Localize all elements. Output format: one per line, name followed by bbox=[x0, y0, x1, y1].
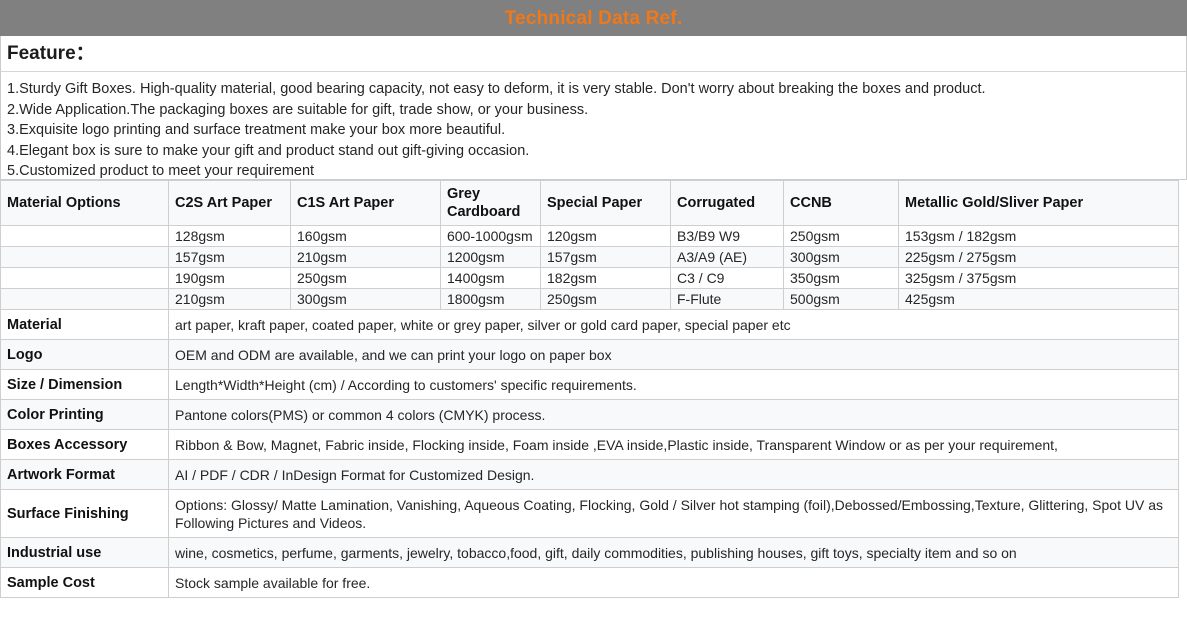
cell-c2s-art-paper: 157gsm bbox=[169, 247, 291, 268]
feature-heading-row: Feature： bbox=[0, 36, 1187, 71]
cell-c2s-art-paper: 128gsm bbox=[169, 226, 291, 247]
cell-c1s-art-paper: 300gsm bbox=[291, 289, 441, 310]
spec-row-sample-cost: Sample Cost Stock sample available for f… bbox=[1, 568, 1179, 598]
spec-row-surface-finishing: Surface Finishing Options: Glossy/ Matte… bbox=[1, 490, 1179, 538]
feature-line: 1.Sturdy Gift Boxes. High-quality materi… bbox=[7, 79, 1180, 100]
spec-row-boxes-accessory: Boxes Accessory Ribbon & Bow, Magnet, Fa… bbox=[1, 430, 1179, 460]
cell-ccnb: 300gsm bbox=[784, 247, 899, 268]
cell-corrugated: A3/A9 (AE) bbox=[671, 247, 784, 268]
cell-grey-cardboard: 600-1000gsm bbox=[441, 226, 541, 247]
cell-metallic-paper: 425gsm bbox=[899, 289, 1179, 310]
spec-row-material: Material art paper, kraft paper, coated … bbox=[1, 310, 1179, 340]
cell-special-paper: 182gsm bbox=[541, 268, 671, 289]
spec-value: art paper, kraft paper, coated paper, wh… bbox=[169, 310, 1179, 340]
spec-label: Industrial use bbox=[1, 538, 169, 568]
cell-c1s-art-paper: 160gsm bbox=[291, 226, 441, 247]
cell-metallic-paper: 325gsm / 375gsm bbox=[899, 268, 1179, 289]
cell-material-options bbox=[1, 289, 169, 310]
cell-ccnb: 250gsm bbox=[784, 226, 899, 247]
spec-label: Size / Dimension bbox=[1, 370, 169, 400]
spec-row-industrial-use: Industrial use wine, cosmetics, perfume,… bbox=[1, 538, 1179, 568]
cell-grey-cardboard: 1200gsm bbox=[441, 247, 541, 268]
cell-c2s-art-paper: 190gsm bbox=[169, 268, 291, 289]
feature-heading: Feature： bbox=[7, 44, 95, 63]
column-header-grey-cardboard: Grey Cardboard bbox=[441, 181, 541, 226]
column-header-c1s-art-paper: C1S Art Paper bbox=[291, 181, 441, 226]
column-header-corrugated: Corrugated bbox=[671, 181, 784, 226]
spec-value: Length*Width*Height (cm) / According to … bbox=[169, 370, 1179, 400]
cell-grey-cardboard: 1400gsm bbox=[441, 268, 541, 289]
technical-data-sheet: Technical Data Ref. Feature： 1.Sturdy Gi… bbox=[0, 0, 1187, 620]
cell-ccnb: 500gsm bbox=[784, 289, 899, 310]
cell-metallic-paper: 225gsm / 275gsm bbox=[899, 247, 1179, 268]
spec-label: Artwork Format bbox=[1, 460, 169, 490]
spec-value: Stock sample available for free. bbox=[169, 568, 1179, 598]
spec-label: Boxes Accessory bbox=[1, 430, 169, 460]
spec-value: OEM and ODM are available, and we can pr… bbox=[169, 340, 1179, 370]
feature-list: 1.Sturdy Gift Boxes. High-quality materi… bbox=[0, 71, 1187, 180]
spec-value: Pantone colors(PMS) or common 4 colors (… bbox=[169, 400, 1179, 430]
cell-special-paper: 250gsm bbox=[541, 289, 671, 310]
feature-line: 2.Wide Application.The packaging boxes a… bbox=[7, 100, 1180, 121]
spec-row-size-dimension: Size / Dimension Length*Width*Height (cm… bbox=[1, 370, 1179, 400]
spec-value: AI / PDF / CDR / InDesign Format for Cus… bbox=[169, 460, 1179, 490]
cell-corrugated: B3/B9 W9 bbox=[671, 226, 784, 247]
cell-corrugated: C3 / C9 bbox=[671, 268, 784, 289]
specification-table: Material Options C2S Art Paper C1S Art P… bbox=[0, 180, 1179, 598]
spec-row-color-printing: Color Printing Pantone colors(PMS) or co… bbox=[1, 400, 1179, 430]
column-header-ccnb: CCNB bbox=[784, 181, 899, 226]
spec-row-logo: Logo OEM and ODM are available, and we c… bbox=[1, 340, 1179, 370]
spec-value: wine, cosmetics, perfume, garments, jewe… bbox=[169, 538, 1179, 568]
cell-material-options bbox=[1, 247, 169, 268]
cell-grey-cardboard: 1800gsm bbox=[441, 289, 541, 310]
spec-value: Options: Glossy/ Matte Lamination, Vanis… bbox=[169, 490, 1179, 538]
spec-label: Color Printing bbox=[1, 400, 169, 430]
cell-material-options bbox=[1, 226, 169, 247]
spec-label: Surface Finishing bbox=[1, 490, 169, 538]
cell-corrugated: F-Flute bbox=[671, 289, 784, 310]
spec-label: Sample Cost bbox=[1, 568, 169, 598]
column-header-special-paper: Special Paper bbox=[541, 181, 671, 226]
cell-c1s-art-paper: 250gsm bbox=[291, 268, 441, 289]
table-row: 190gsm 250gsm 1400gsm 182gsm C3 / C9 350… bbox=[1, 268, 1179, 289]
spec-label: Logo bbox=[1, 340, 169, 370]
table-row: 157gsm 210gsm 1200gsm 157gsm A3/A9 (AE) … bbox=[1, 247, 1179, 268]
spec-label: Material bbox=[1, 310, 169, 340]
page-title: Technical Data Ref. bbox=[505, 9, 683, 28]
table-row: 128gsm 160gsm 600-1000gsm 120gsm B3/B9 W… bbox=[1, 226, 1179, 247]
column-header-metallic-gold-sliver-paper: Metallic Gold/Sliver Paper bbox=[899, 181, 1179, 226]
spec-row-artwork-format: Artwork Format AI / PDF / CDR / InDesign… bbox=[1, 460, 1179, 490]
cell-c1s-art-paper: 210gsm bbox=[291, 247, 441, 268]
cell-c2s-art-paper: 210gsm bbox=[169, 289, 291, 310]
cell-special-paper: 120gsm bbox=[541, 226, 671, 247]
title-bar: Technical Data Ref. bbox=[0, 0, 1187, 36]
material-options-header-row: Material Options C2S Art Paper C1S Art P… bbox=[1, 181, 1179, 226]
table-row: 210gsm 300gsm 1800gsm 250gsm F-Flute 500… bbox=[1, 289, 1179, 310]
cell-material-options bbox=[1, 268, 169, 289]
cell-ccnb: 350gsm bbox=[784, 268, 899, 289]
feature-line: 5.Customized product to meet your requir… bbox=[7, 161, 1180, 182]
column-header-material-options: Material Options bbox=[1, 181, 169, 226]
column-header-c2s-art-paper: C2S Art Paper bbox=[169, 181, 291, 226]
cell-special-paper: 157gsm bbox=[541, 247, 671, 268]
feature-line: 3.Exquisite logo printing and surface tr… bbox=[7, 120, 1180, 141]
feature-line: 4.Elegant box is sure to make your gift … bbox=[7, 141, 1180, 162]
cell-metallic-paper: 153gsm / 182gsm bbox=[899, 226, 1179, 247]
spec-value: Ribbon & Bow, Magnet, Fabric inside, Flo… bbox=[169, 430, 1179, 460]
